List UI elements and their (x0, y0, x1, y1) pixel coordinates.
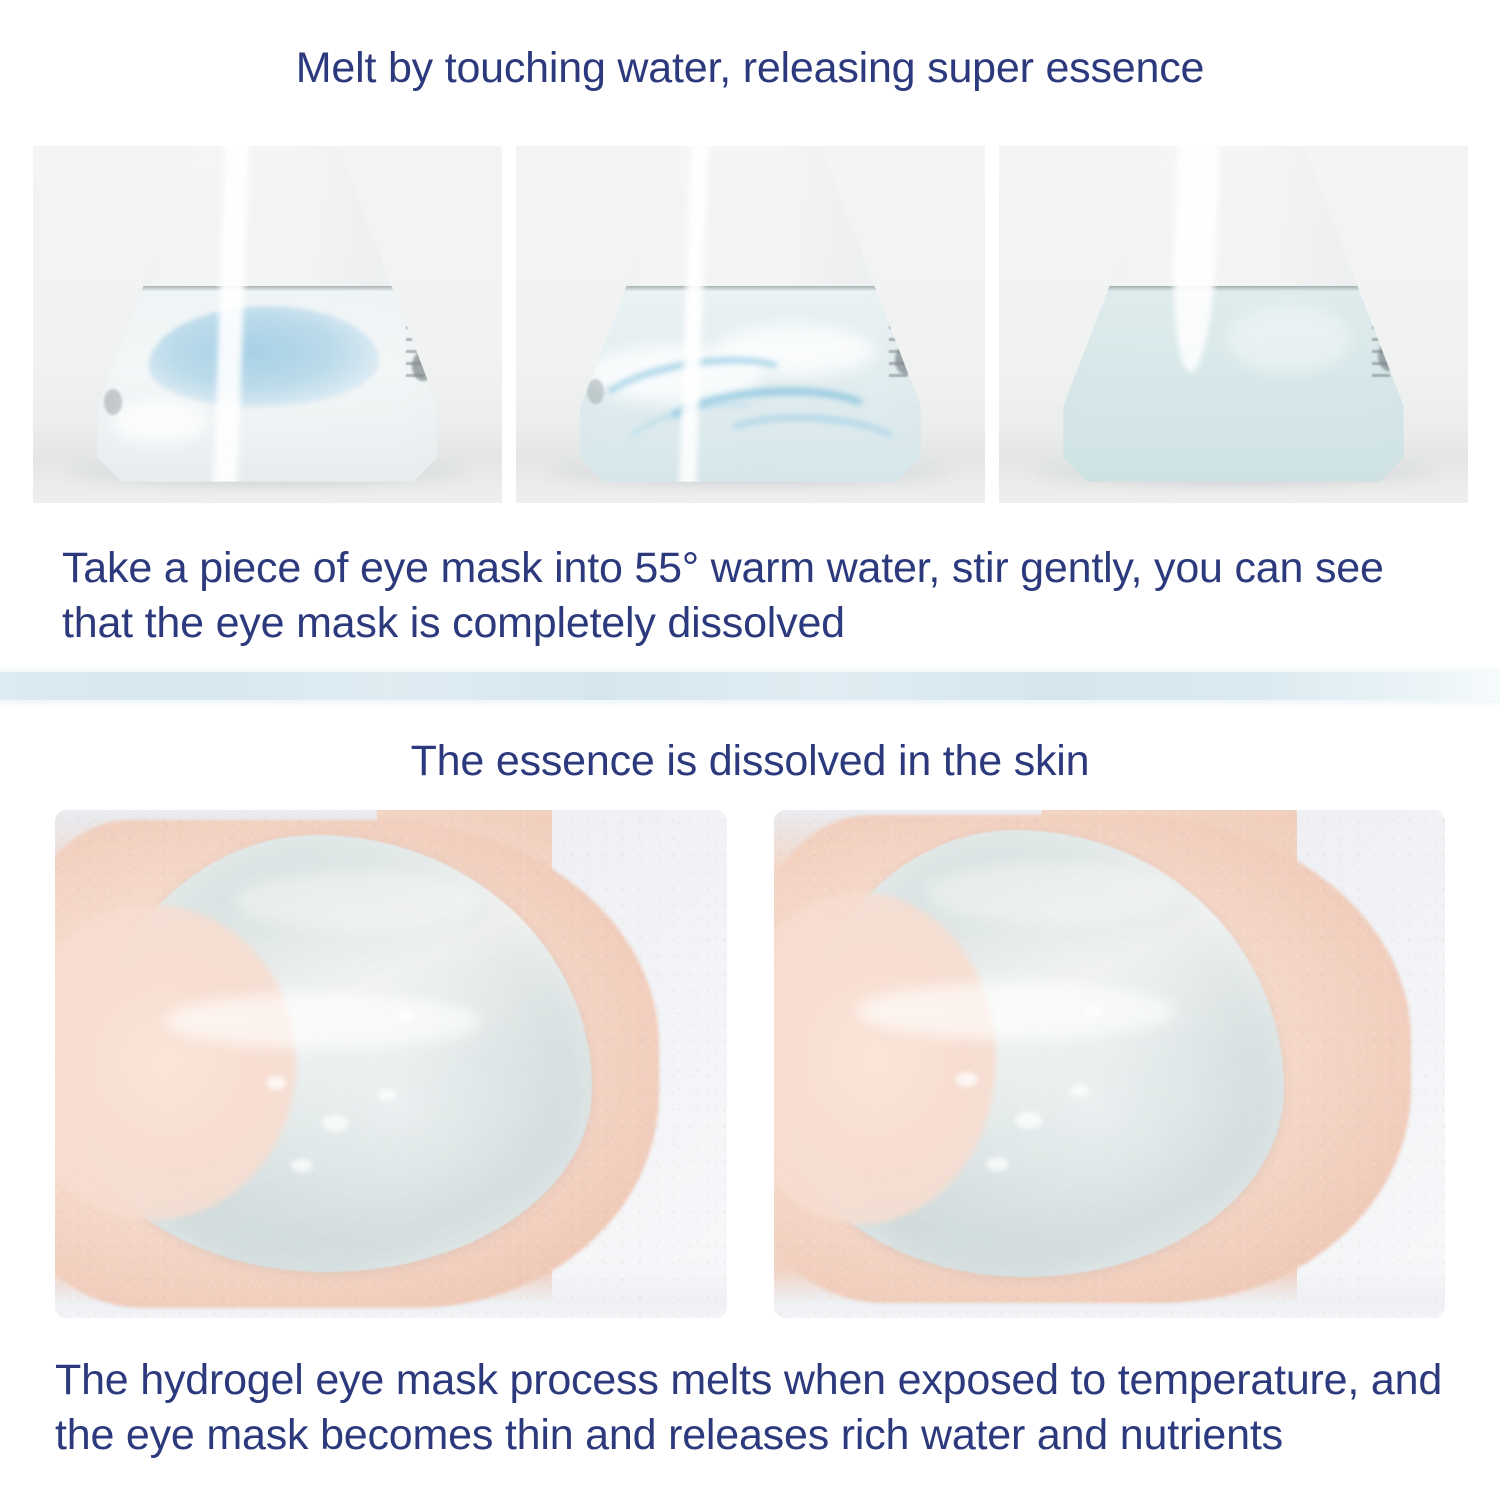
patch-speck (291, 1159, 313, 1172)
patch-speck (1070, 1085, 1089, 1097)
liquid-surface-line (94, 286, 441, 291)
patch-speck (266, 1076, 286, 1090)
flask-photo-mask-dissolved (999, 146, 1468, 503)
liquid-wisp (111, 400, 208, 443)
patch-speck (956, 1072, 978, 1087)
patch-crescent-notch (774, 893, 996, 1224)
patch-speck (1015, 1112, 1042, 1129)
liquid-surface-line (1060, 286, 1407, 291)
patch-speck (1085, 1005, 1102, 1016)
eye-mask-patch-floating (149, 306, 378, 408)
section-divider (0, 672, 1500, 700)
section-two-title: The essence is dissolved in the skin (0, 737, 1500, 785)
skin-photo-patch-right (774, 810, 1446, 1318)
flask-photo-mask-dissolving (516, 146, 985, 503)
section-one-title: Melt by touching water, releasing super … (0, 44, 1500, 92)
skin-photo-row (55, 810, 1445, 1318)
patch-speck (986, 1157, 1009, 1171)
flask-photo-mask-intact (33, 146, 502, 503)
section-one-caption: Take a piece of eye mask into 55° warm w… (62, 541, 1462, 650)
product-detail-page: Melt by touching water, releasing super … (0, 0, 1500, 1500)
flask-photo-row (33, 146, 1468, 503)
patch-gloss (164, 993, 480, 1050)
patch-speck (322, 1115, 348, 1131)
flask-liquid (577, 286, 924, 481)
patch-speck (378, 1089, 396, 1101)
flask-liquid (94, 286, 441, 481)
flask-liquid (1060, 286, 1407, 481)
patch-gloss (235, 870, 480, 931)
liquid-surface-line (577, 286, 924, 291)
patch-gloss (926, 862, 1174, 925)
patch-gloss (856, 982, 1174, 1040)
section-two-caption: The hydrogel eye mask process melts when… (55, 1353, 1455, 1462)
skin-photo-patch-left (55, 810, 727, 1318)
liquid-wisp (1227, 306, 1352, 372)
patch-crescent-notch (55, 905, 296, 1220)
